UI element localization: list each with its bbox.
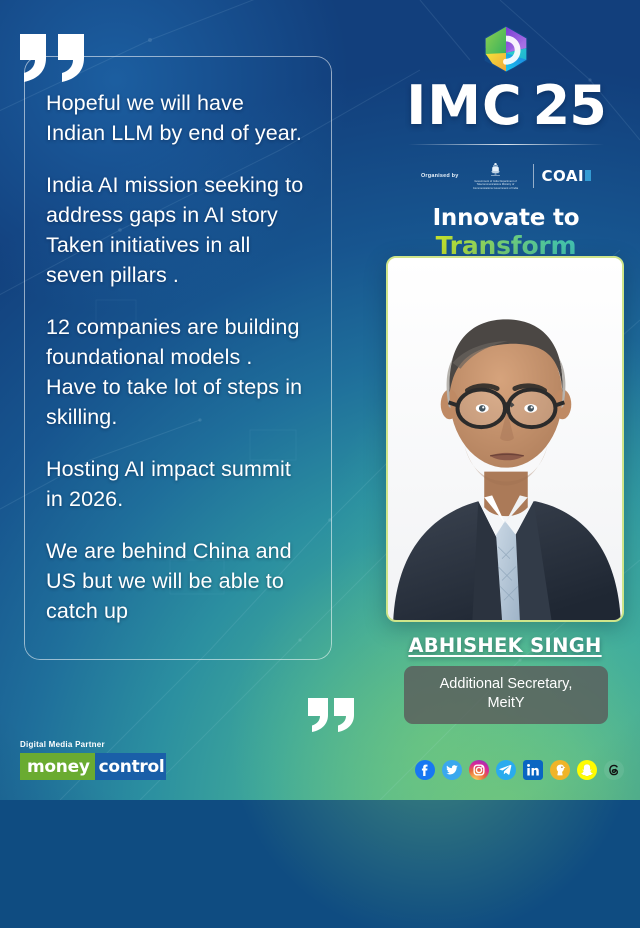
threads-icon[interactable]: [604, 760, 624, 780]
quote-paragraph: Hosting AI impact summit in 2026.: [46, 454, 338, 514]
moneycontrol-logo[interactable]: money control: [20, 753, 166, 780]
organisers-row: Organised by Government of India Departm…: [392, 159, 620, 193]
speaker-photo-frame: [386, 256, 624, 622]
speaker-role-badge: Additional Secretary, MeitY: [404, 666, 608, 724]
moneycontrol-logo-control: control: [95, 753, 166, 780]
quote-paragraph: 12 companies are building foundational m…: [46, 312, 338, 432]
snapchat-icon[interactable]: [577, 760, 597, 780]
logo-divider-rule: [408, 144, 604, 145]
quote-close-icon: [306, 694, 358, 734]
koo-icon[interactable]: [550, 760, 570, 780]
media-partner-block: Digital Media Partner money control: [20, 740, 166, 780]
ministry-name: Government of India Department of Teleco…: [467, 180, 525, 190]
instagram-icon[interactable]: [469, 760, 489, 780]
event-tagline: Innovate to Transform: [392, 205, 620, 260]
quote-text: Hopeful we will have Indian LLM by end o…: [46, 88, 338, 626]
speaker-name: ABHISHEK SINGH: [386, 634, 624, 657]
speaker-portrait-photo: [388, 258, 622, 620]
quote-paragraph: India AI mission seeking to address gaps…: [46, 170, 338, 290]
government-of-india-emblem-icon: Government of India Department of Teleco…: [467, 162, 525, 190]
tagline-line-1: Innovate to: [392, 205, 620, 232]
quote-open-icon: [16, 28, 92, 84]
twitter-icon[interactable]: [442, 760, 462, 780]
social-links-bar: [415, 760, 624, 780]
facebook-icon[interactable]: [415, 760, 435, 780]
imc-wordmark: IMC25: [392, 78, 620, 134]
telegram-icon[interactable]: [496, 760, 516, 780]
organiser-divider: [533, 164, 534, 188]
linkedin-icon[interactable]: [523, 760, 543, 780]
coai-logo: COAI: [542, 167, 592, 185]
event-logo-block: IMC25 Organised by Government of India D…: [392, 22, 620, 260]
quote-paragraph: Hopeful we will have Indian LLM by end o…: [46, 88, 338, 148]
media-partner-label: Digital Media Partner: [20, 740, 166, 749]
organised-by-label: Organised by: [421, 173, 459, 179]
moneycontrol-logo-money: money: [20, 753, 95, 780]
imc-year: 25: [533, 74, 606, 137]
imc-name: IMC: [406, 74, 522, 137]
quote-paragraph: We are behind China and US but we will b…: [46, 536, 338, 626]
